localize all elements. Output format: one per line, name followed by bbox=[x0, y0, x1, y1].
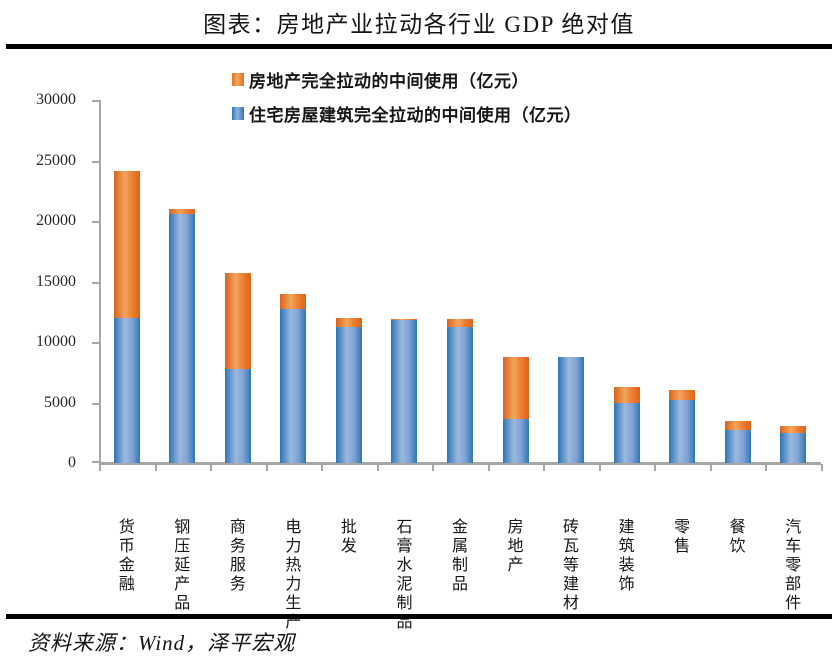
y-axis-tick bbox=[92, 282, 99, 284]
bar-segment-orange[interactable] bbox=[780, 426, 806, 433]
bar-segment-blue[interactable] bbox=[725, 430, 751, 463]
y-tick-label: 30000 bbox=[36, 91, 76, 109]
bar-group[interactable] bbox=[503, 357, 529, 463]
bar-group[interactable] bbox=[225, 273, 251, 463]
bar-segment-orange[interactable] bbox=[336, 318, 362, 327]
y-tick-label: 25000 bbox=[36, 152, 76, 170]
bar-segment-blue[interactable] bbox=[558, 357, 584, 463]
x-axis-tick bbox=[710, 464, 712, 471]
y-tick-label: 20000 bbox=[36, 212, 76, 230]
bar-group[interactable] bbox=[614, 387, 640, 463]
bottom-divider bbox=[6, 614, 832, 619]
bar-segment-orange[interactable] bbox=[447, 319, 473, 327]
legend-label-orange: 房地产完全拉动的中间使用（亿元） bbox=[249, 67, 529, 92]
bar-group[interactable] bbox=[780, 426, 806, 464]
bar-group[interactable] bbox=[558, 357, 584, 463]
y-axis-tick bbox=[92, 403, 99, 405]
bar-group[interactable] bbox=[669, 390, 695, 463]
x-axis-tick bbox=[377, 464, 379, 471]
bar-segment-blue[interactable] bbox=[225, 369, 251, 463]
y-axis-tick bbox=[92, 342, 99, 344]
x-axis-tick bbox=[210, 464, 212, 471]
bar-group[interactable] bbox=[391, 319, 417, 463]
chart-area: 房地产完全拉动的中间使用（亿元） 住宅房屋建筑完全拉动的中间使用（亿元） 300… bbox=[0, 49, 838, 612]
x-axis-label: 零售 bbox=[671, 518, 693, 556]
bar-segment-orange[interactable] bbox=[280, 294, 306, 310]
x-axis-label: 货币金融 bbox=[116, 518, 138, 594]
bar-segment-orange[interactable] bbox=[503, 357, 529, 420]
plot-region bbox=[99, 100, 821, 463]
y-tick-label: 10000 bbox=[36, 333, 76, 351]
x-axis-tick bbox=[432, 464, 434, 471]
bar-segment-blue[interactable] bbox=[669, 400, 695, 463]
page-title: 图表：房地产业拉动各行业 GDP 绝对值 bbox=[203, 5, 635, 39]
bar-series-layer bbox=[99, 100, 821, 463]
x-axis-tick bbox=[488, 464, 490, 471]
x-axis-label: 建筑装饰 bbox=[616, 518, 638, 594]
x-axis-label: 房地产 bbox=[505, 518, 527, 575]
bar-segment-blue[interactable] bbox=[447, 327, 473, 463]
bar-group[interactable] bbox=[725, 421, 751, 463]
x-axis-label: 批发 bbox=[338, 518, 360, 556]
x-axis-label: 汽车零部件 bbox=[782, 518, 804, 613]
bar-segment-blue[interactable] bbox=[114, 318, 140, 463]
x-axis-tick bbox=[266, 464, 268, 471]
legend-swatch-orange-icon bbox=[232, 73, 244, 86]
title-bar: 图表：房地产业拉动各行业 GDP 绝对值 bbox=[0, 0, 838, 44]
x-axis-tick bbox=[321, 464, 323, 471]
bar-segment-orange[interactable] bbox=[669, 390, 695, 400]
bar-segment-blue[interactable] bbox=[503, 419, 529, 463]
bar-segment-blue[interactable] bbox=[391, 320, 417, 463]
x-axis-label: 砖瓦等建材 bbox=[560, 518, 582, 613]
x-axis-label: 金属制品 bbox=[449, 518, 471, 594]
y-tick-label: 0 bbox=[68, 454, 76, 472]
x-axis-label: 餐饮 bbox=[727, 518, 749, 556]
x-axis-tick bbox=[821, 464, 823, 471]
x-axis-tick bbox=[654, 464, 656, 471]
y-axis-tick bbox=[92, 161, 99, 163]
bar-group[interactable] bbox=[280, 294, 306, 463]
legend-item-orange: 房地产完全拉动的中间使用（亿元） bbox=[232, 67, 582, 92]
bar-segment-blue[interactable] bbox=[336, 327, 362, 463]
y-tick-label: 15000 bbox=[36, 273, 76, 291]
bar-segment-blue[interactable] bbox=[780, 433, 806, 463]
bar-group[interactable] bbox=[114, 171, 140, 463]
x-axis-tick bbox=[765, 464, 767, 471]
x-axis-tick bbox=[155, 464, 157, 471]
y-axis-labels: 30000 25000 20000 15000 10000 5000 0 bbox=[0, 100, 90, 463]
x-axis-label: 商务服务 bbox=[227, 518, 249, 594]
source-note: 资料来源：Wind，泽平宏观 bbox=[28, 627, 295, 657]
bar-segment-orange[interactable] bbox=[225, 273, 251, 369]
bar-group[interactable] bbox=[169, 209, 195, 463]
x-axis-tick bbox=[543, 464, 545, 471]
bar-segment-orange[interactable] bbox=[725, 421, 751, 430]
bar-group[interactable] bbox=[336, 318, 362, 463]
x-axis-tick bbox=[99, 464, 101, 471]
y-axis-tick bbox=[92, 461, 99, 463]
y-tick-label: 5000 bbox=[44, 394, 76, 412]
x-axis-label: 钢压延产品 bbox=[171, 518, 193, 613]
x-axis-labels: 货币金融钢压延产品商务服务电力热力生产批发石膏水泥制品金属制品房地产砖瓦等建材建… bbox=[99, 518, 821, 638]
x-axis-tick bbox=[599, 464, 601, 471]
bar-segment-orange[interactable] bbox=[114, 171, 140, 317]
y-axis-tick bbox=[92, 100, 99, 102]
bar-segment-blue[interactable] bbox=[169, 214, 195, 463]
bar-segment-blue[interactable] bbox=[614, 403, 640, 464]
y-axis-tick bbox=[92, 221, 99, 223]
bar-segment-blue[interactable] bbox=[280, 309, 306, 463]
bar-segment-orange[interactable] bbox=[614, 387, 640, 403]
bar-group[interactable] bbox=[447, 319, 473, 463]
